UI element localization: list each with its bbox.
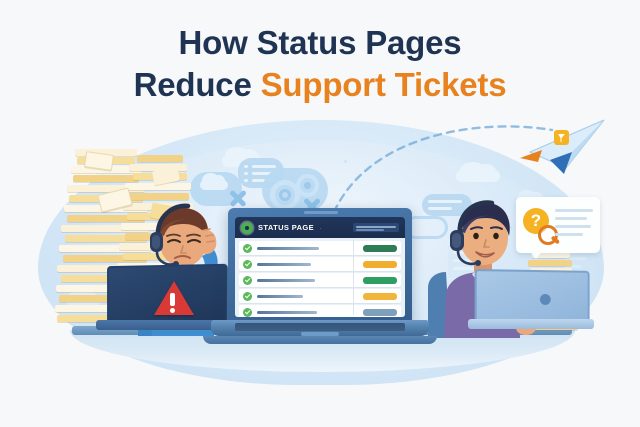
center-laptop-front-edge — [203, 336, 437, 344]
center-laptop-keyboard[interactable] — [235, 323, 405, 331]
warning-exclamation-bar — [170, 293, 175, 306]
status-page-header: STATUS PAGE . — [235, 217, 405, 238]
status-badge — [363, 309, 397, 316]
right-laptop — [470, 270, 590, 332]
left-laptop — [96, 265, 224, 333]
status-badge — [363, 277, 397, 284]
illustration-canvas: ? — [0, 0, 640, 427]
warning-exclamation-dot — [170, 308, 175, 313]
paper-plane-icon — [520, 112, 610, 182]
status-page-brand-suffix: . — [320, 225, 322, 231]
green-check-icon — [243, 260, 252, 269]
title-line-1: How Status Pages — [0, 22, 640, 64]
right-laptop-base — [468, 319, 594, 329]
green-check-icon — [243, 276, 252, 285]
service-name-bar — [257, 279, 315, 282]
table-row[interactable] — [239, 289, 401, 303]
status-badge — [363, 261, 397, 268]
faq-line-3 — [555, 225, 591, 228]
center-laptop: STATUS PAGE . — [215, 208, 425, 353]
status-logo-icon — [241, 222, 253, 234]
center-laptop-bezel: STATUS PAGE . — [228, 208, 412, 324]
service-name-bar — [257, 295, 303, 298]
page-title: How Status Pages Reduce Support Tickets — [0, 22, 640, 106]
table-row[interactable] — [239, 273, 401, 287]
green-check-icon — [243, 244, 252, 253]
status-badge — [363, 293, 397, 300]
service-name-bar — [257, 247, 319, 250]
status-page-rows — [235, 238, 405, 317]
webcam-strip — [304, 211, 338, 214]
table-row[interactable] — [239, 257, 401, 271]
faq-line-1 — [555, 209, 593, 212]
right-laptop-logo — [540, 294, 551, 305]
table-row[interactable] — [239, 305, 401, 317]
status-column-divider — [353, 239, 354, 315]
status-badge — [363, 245, 397, 252]
faq-line-2 — [555, 217, 587, 220]
green-check-icon — [243, 292, 252, 301]
status-page-brand: STATUS PAGE — [258, 223, 314, 232]
title-line-2-plain: Reduce — [134, 66, 261, 103]
service-name-bar — [257, 311, 317, 314]
status-page-header-widget[interactable] — [353, 223, 399, 232]
title-line-2-accent: Support Tickets — [261, 66, 507, 103]
faq-line-4 — [555, 233, 583, 236]
status-page-screen: STATUS PAGE . — [235, 217, 405, 317]
service-name-bar — [257, 263, 311, 266]
title-line-2: Reduce Support Tickets — [0, 64, 640, 106]
left-laptop-base — [96, 320, 228, 330]
green-check-icon — [243, 308, 252, 317]
table-row[interactable] — [239, 241, 401, 255]
